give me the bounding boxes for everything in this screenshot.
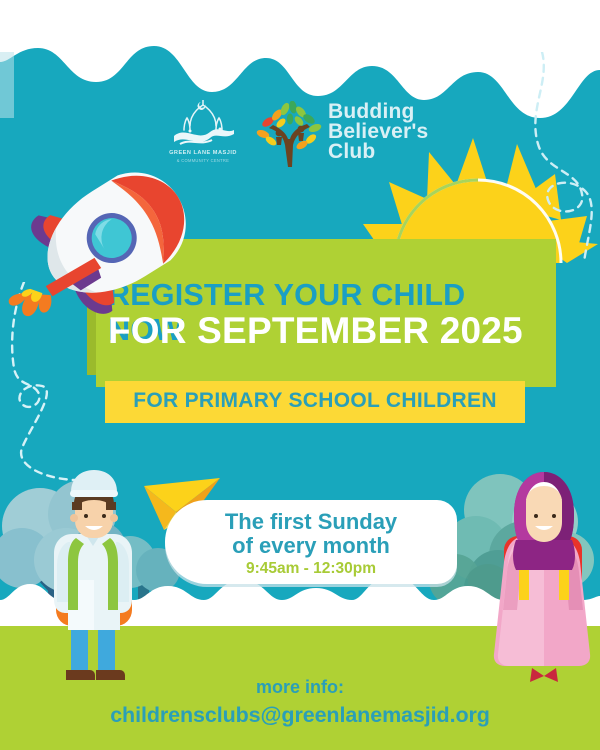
- club-logo-line2: Believer's: [328, 122, 453, 142]
- masjid-logo-name: GREEN LANE MASJID: [160, 150, 246, 156]
- schedule-time: 9:45am - 12:30pm: [165, 560, 457, 578]
- girl-character: [492, 462, 596, 690]
- club-logo-line1: Budding: [328, 102, 453, 122]
- boy-character: [38, 462, 150, 688]
- rocket-icon: [0, 158, 207, 333]
- more-info-label: more info:: [0, 677, 600, 698]
- contact-email[interactable]: childrensclubs@greenlanemasjid.org: [0, 703, 600, 728]
- subtitle-band-edge: [525, 390, 533, 432]
- subtitle-text: FOR PRIMARY SCHOOL CHILDREN: [105, 389, 525, 413]
- schedule-line-1: The first Sunday: [165, 509, 457, 535]
- club-logo-text: Budding Believer's Club: [328, 102, 453, 162]
- dashed-loop-trail-right: [480, 52, 600, 262]
- club-logo-line3: Club: [328, 142, 453, 162]
- tree-logo: [255, 101, 325, 167]
- poster-canvas: GREEN LANE MASJID & COMMUNITY CENTRE: [0, 0, 600, 750]
- schedule-line-2: of every month: [165, 533, 457, 559]
